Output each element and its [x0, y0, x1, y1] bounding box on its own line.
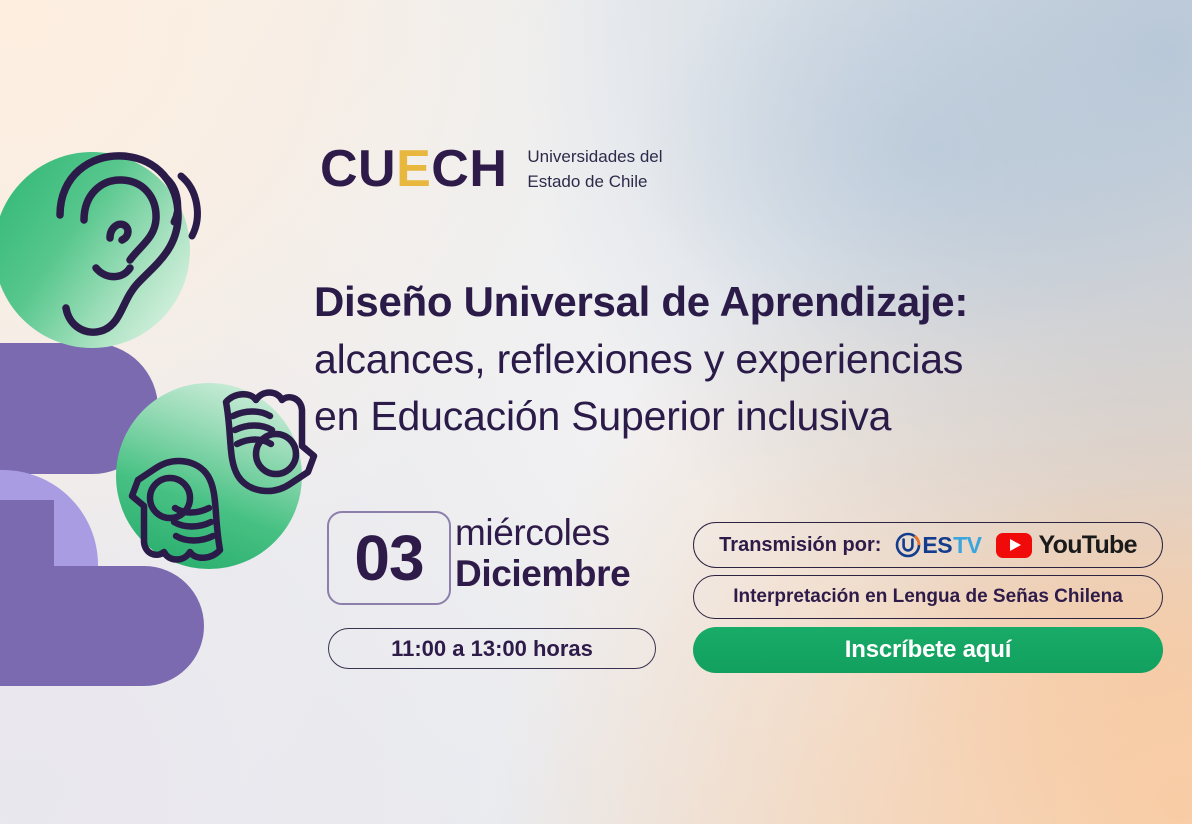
cuech-logo: CUECH Universidades del Estado de Chile [320, 143, 663, 195]
ear-hearing-icon [26, 140, 226, 360]
youtube-wordmark: YouTube [1039, 531, 1137, 560]
cuech-suffix: CH [431, 140, 507, 198]
uestv-circle-u-icon [895, 532, 921, 558]
cuech-subtitle: Universidades del Estado de Chile [527, 143, 662, 194]
sign-language-hands-icon [104, 372, 324, 587]
register-button-label: Inscríbete aquí [845, 636, 1011, 664]
uestv-tv-text: TV [953, 532, 981, 559]
event-time-pill: 11:00 a 13:00 horas [328, 628, 656, 669]
date-day-number: 03 [354, 526, 423, 590]
youtube-logo[interactable]: YouTube [996, 531, 1137, 560]
date-labels: miércoles Diciembre [455, 514, 630, 594]
uestv-es-text: ES [922, 532, 952, 559]
cuech-subtitle-line-2: Estado de Chile [527, 170, 662, 195]
cuech-subtitle-line-1: Universidades del [527, 145, 662, 170]
event-title: Diseño Universal de Aprendizaje: alcance… [314, 278, 1174, 441]
broadcast-pill: Transmisión por: ESTV YouTube [693, 522, 1163, 568]
event-poster: CUECH Universidades del Estado de Chile … [0, 0, 1192, 824]
cuech-accent-letter: E [396, 140, 431, 198]
cuech-wordmark: CUECH [320, 143, 507, 195]
cuech-prefix: CU [320, 140, 396, 198]
broadcast-label: Transmisión por: [719, 534, 881, 557]
date-weekday: miércoles [455, 514, 630, 552]
title-line-1: Diseño Universal de Aprendizaje: [314, 278, 1174, 325]
date-day-box: 03 [327, 511, 451, 605]
title-line-2: alcances, reflexiones y experiencias [314, 335, 1174, 383]
event-time-label: 11:00 a 13:00 horas [391, 636, 593, 662]
date-month: Diciembre [455, 554, 630, 594]
youtube-play-icon [996, 533, 1032, 558]
accessibility-note-label: Interpretación en Lengua de Señas Chilen… [733, 586, 1123, 608]
register-button[interactable]: Inscríbete aquí [693, 627, 1163, 673]
uestv-logo[interactable]: ESTV [895, 532, 981, 559]
accessibility-note-pill: Interpretación en Lengua de Señas Chilen… [693, 575, 1163, 619]
title-line-3: en Educación Superior inclusiva [314, 392, 1174, 440]
